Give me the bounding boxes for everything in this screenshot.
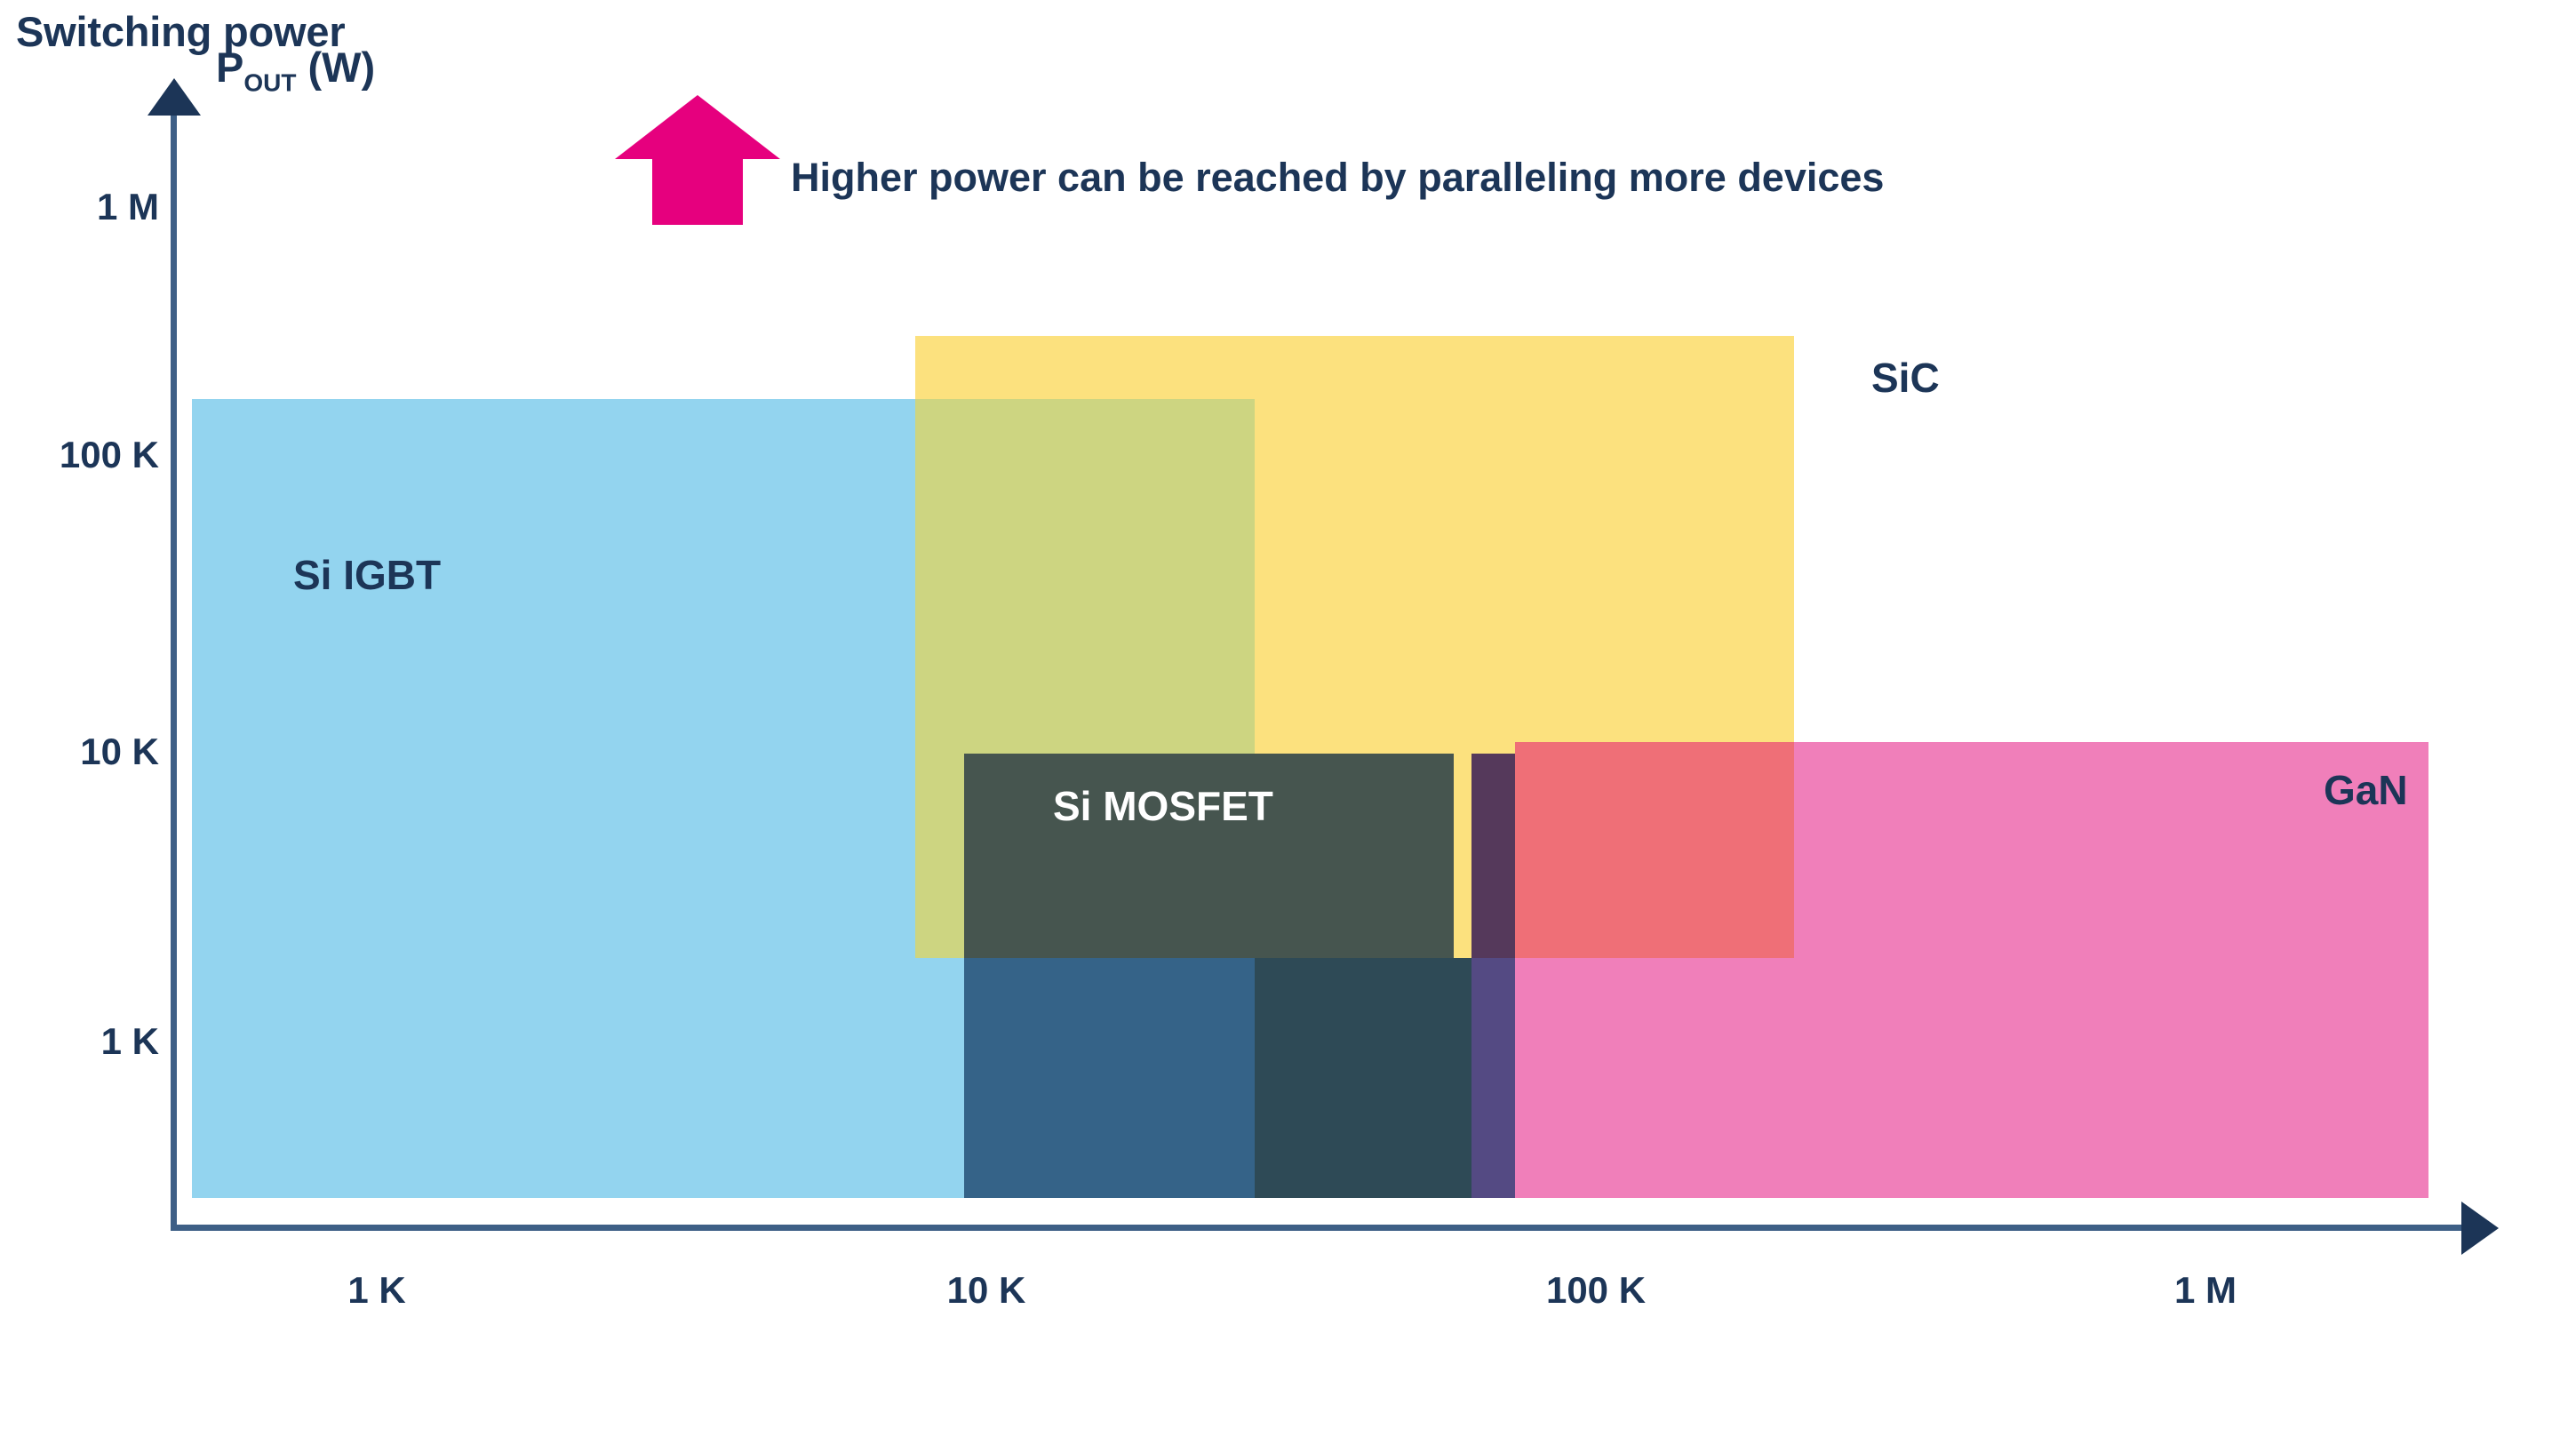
region-label-si-igbt: Si IGBT [293,551,441,599]
y-tick-label: 1 K [101,1020,159,1063]
region-label-sic: SiC [1871,354,1940,402]
y-axis-line [171,105,177,1230]
region-label-gan: GaN [2324,766,2408,814]
up-arrow-icon [613,92,782,225]
region-label-si-mosfet: Si MOSFET [1053,782,1273,830]
x-axis-line [171,1225,2468,1231]
x-tick-label: 10 K [947,1269,1026,1312]
y-tick-label: 100 K [60,434,159,476]
x-tick-label: 100 K [1546,1269,1646,1312]
overlap-mosfet-gan-upper [1471,754,1515,958]
y-tick-label: 1 M [97,186,159,228]
x-tick-label: 1 M [2174,1269,2237,1312]
y-tick-label: 10 K [80,730,159,773]
chart-canvas: Switching power POUT (W) 1 M 100 K 10 K … [0,0,2576,1445]
overlap-mosfet-igbt [964,958,1255,1198]
overlap-sic-gan [1515,742,1794,958]
y-axis-symbol-units: (W) [296,44,375,91]
x-axis-arrow-icon [2461,1202,2499,1255]
y-axis-title-symbol: POUT (W) [216,43,375,97]
y-axis-symbol-subscript: OUT [243,68,296,96]
overlap-mosfet-lower-right [1255,958,1471,1198]
overlap-mosfet-gan-lower [1471,958,1515,1198]
x-tick-label: 1 K [347,1269,405,1312]
y-axis-arrow-icon [148,78,201,116]
y-axis-symbol-prefix: P [216,44,243,91]
annotation-text: Higher power can be reached by paralleli… [791,155,1884,201]
